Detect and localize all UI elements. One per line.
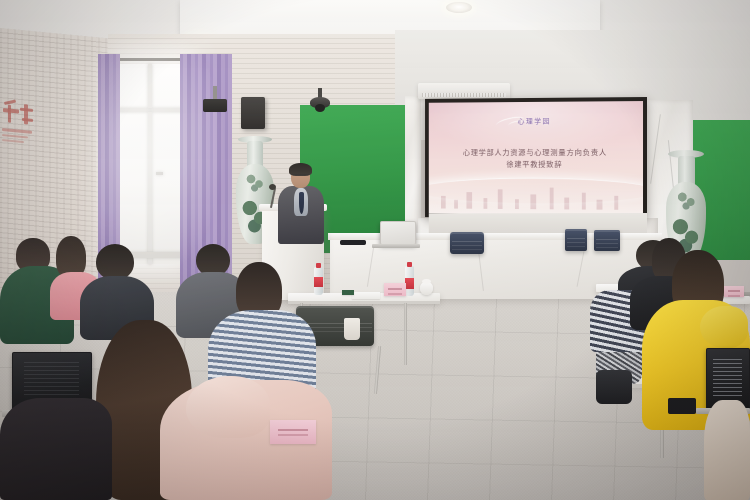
laptop-screen-text [713, 359, 742, 396]
slide-body-text: 心理学部人力资源与心理测量方向负责人 徐建平教授致辞 [441, 147, 630, 172]
projection-screen: 心理学园 心理学部人力资源与心理测量方向负责人 徐建平教授致辞 [425, 97, 647, 219]
wall-speaker-icon [241, 97, 265, 129]
slide-header-text: 心理学园 [429, 116, 643, 127]
projector-mount [213, 86, 217, 100]
table-leg [404, 303, 407, 365]
bag-on-chair [596, 370, 632, 404]
stacked-chairs[interactable] [565, 229, 587, 251]
slide-arc-graphic [429, 177, 643, 204]
hoodie-hood [186, 376, 270, 438]
slide-body-line-1: 心理学部人力资源与心理测量方向负责人 [441, 147, 630, 159]
presenter-laptop-base [372, 244, 420, 248]
presenter-laptop[interactable] [380, 221, 416, 245]
wall-poster [0, 94, 46, 156]
name-card [384, 283, 406, 296]
microphone-head-icon [269, 184, 276, 190]
water-bottle[interactable] [314, 267, 323, 295]
projector-icon [203, 99, 227, 112]
desk-folder [342, 290, 354, 295]
slide-body-line-2: 徐建平教授致辞 [441, 159, 630, 171]
photo-scene: 心理学园 心理学部人力资源与心理测量方向负责人 徐建平教授致辞 [0, 0, 750, 500]
phone-on-desk[interactable] [668, 398, 696, 414]
teacup[interactable] [420, 282, 433, 295]
desk-paper [352, 292, 380, 299]
window [118, 64, 186, 264]
downlight-icon [446, 2, 472, 13]
held-cup [344, 318, 360, 340]
name-card [270, 420, 316, 444]
front-table-left-edge [288, 301, 440, 304]
name-card [724, 286, 744, 297]
laptop-screen-content [24, 362, 79, 398]
presentation-slide: 心理学园 心理学部人力资源与心理测量方向负责人 徐建平教授致辞 [429, 101, 643, 215]
air-conditioner-vent [422, 93, 506, 97]
water-bottle[interactable] [405, 266, 414, 296]
counter-device [340, 240, 366, 245]
chair-behind-counter[interactable] [450, 232, 484, 254]
camera-lens-icon [315, 104, 325, 112]
stacked-chairs[interactable] [594, 230, 620, 251]
presenter-tie [299, 192, 304, 214]
glasses-icon [292, 174, 309, 178]
hoodie-hood [700, 306, 748, 348]
